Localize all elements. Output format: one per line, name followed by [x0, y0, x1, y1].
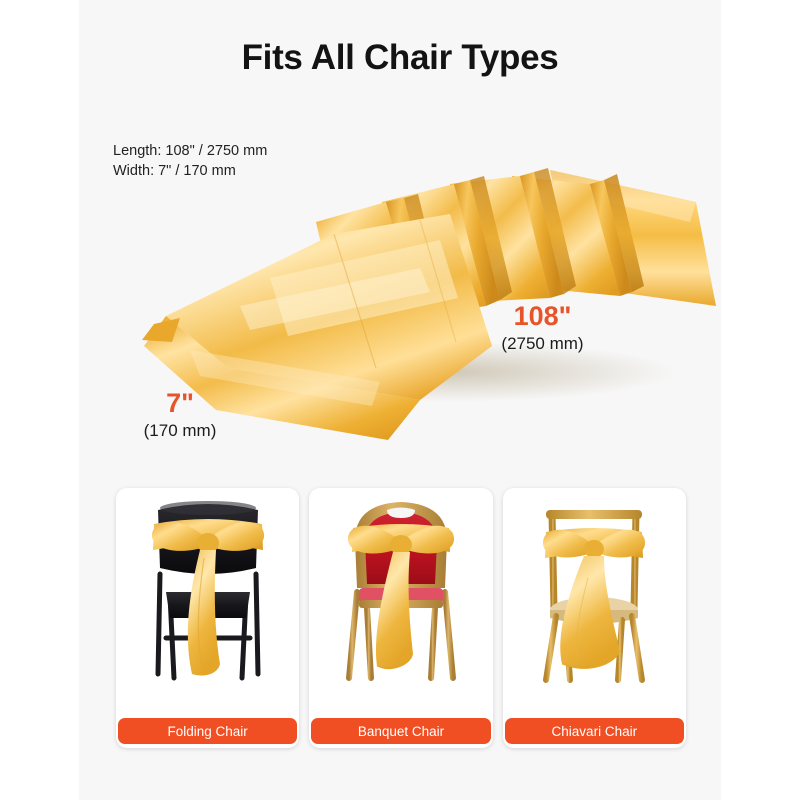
- product-infographic: Fits All Chair Types Length: 108" / 2750…: [0, 0, 800, 800]
- chair-card-folding[interactable]: Folding Chair: [116, 488, 299, 748]
- banquet-chair-image: [309, 488, 492, 700]
- callout-width: 7" (170 mm): [120, 390, 240, 439]
- chiavari-chair-image: [503, 488, 686, 700]
- chair-card-label-chiavari[interactable]: Chiavari Chair: [505, 718, 684, 744]
- callout-length-value: 108": [455, 303, 630, 330]
- chair-card-label-banquet[interactable]: Banquet Chair: [311, 718, 490, 744]
- chair-card-list: Folding Chair: [116, 488, 686, 748]
- chair-card-banquet[interactable]: Banquet Chair: [309, 488, 492, 748]
- chair-card-chiavari[interactable]: Chiavari Chair: [503, 488, 686, 748]
- callout-width-metric: (170 mm): [120, 422, 240, 439]
- chair-card-label-folding[interactable]: Folding Chair: [118, 718, 297, 744]
- callout-length-metric: (2750 mm): [455, 335, 630, 352]
- page-title: Fits All Chair Types: [0, 38, 800, 78]
- callout-length: 108" (2750 mm): [455, 303, 630, 352]
- folding-chair-image: [116, 488, 299, 700]
- callout-width-value: 7": [120, 390, 240, 417]
